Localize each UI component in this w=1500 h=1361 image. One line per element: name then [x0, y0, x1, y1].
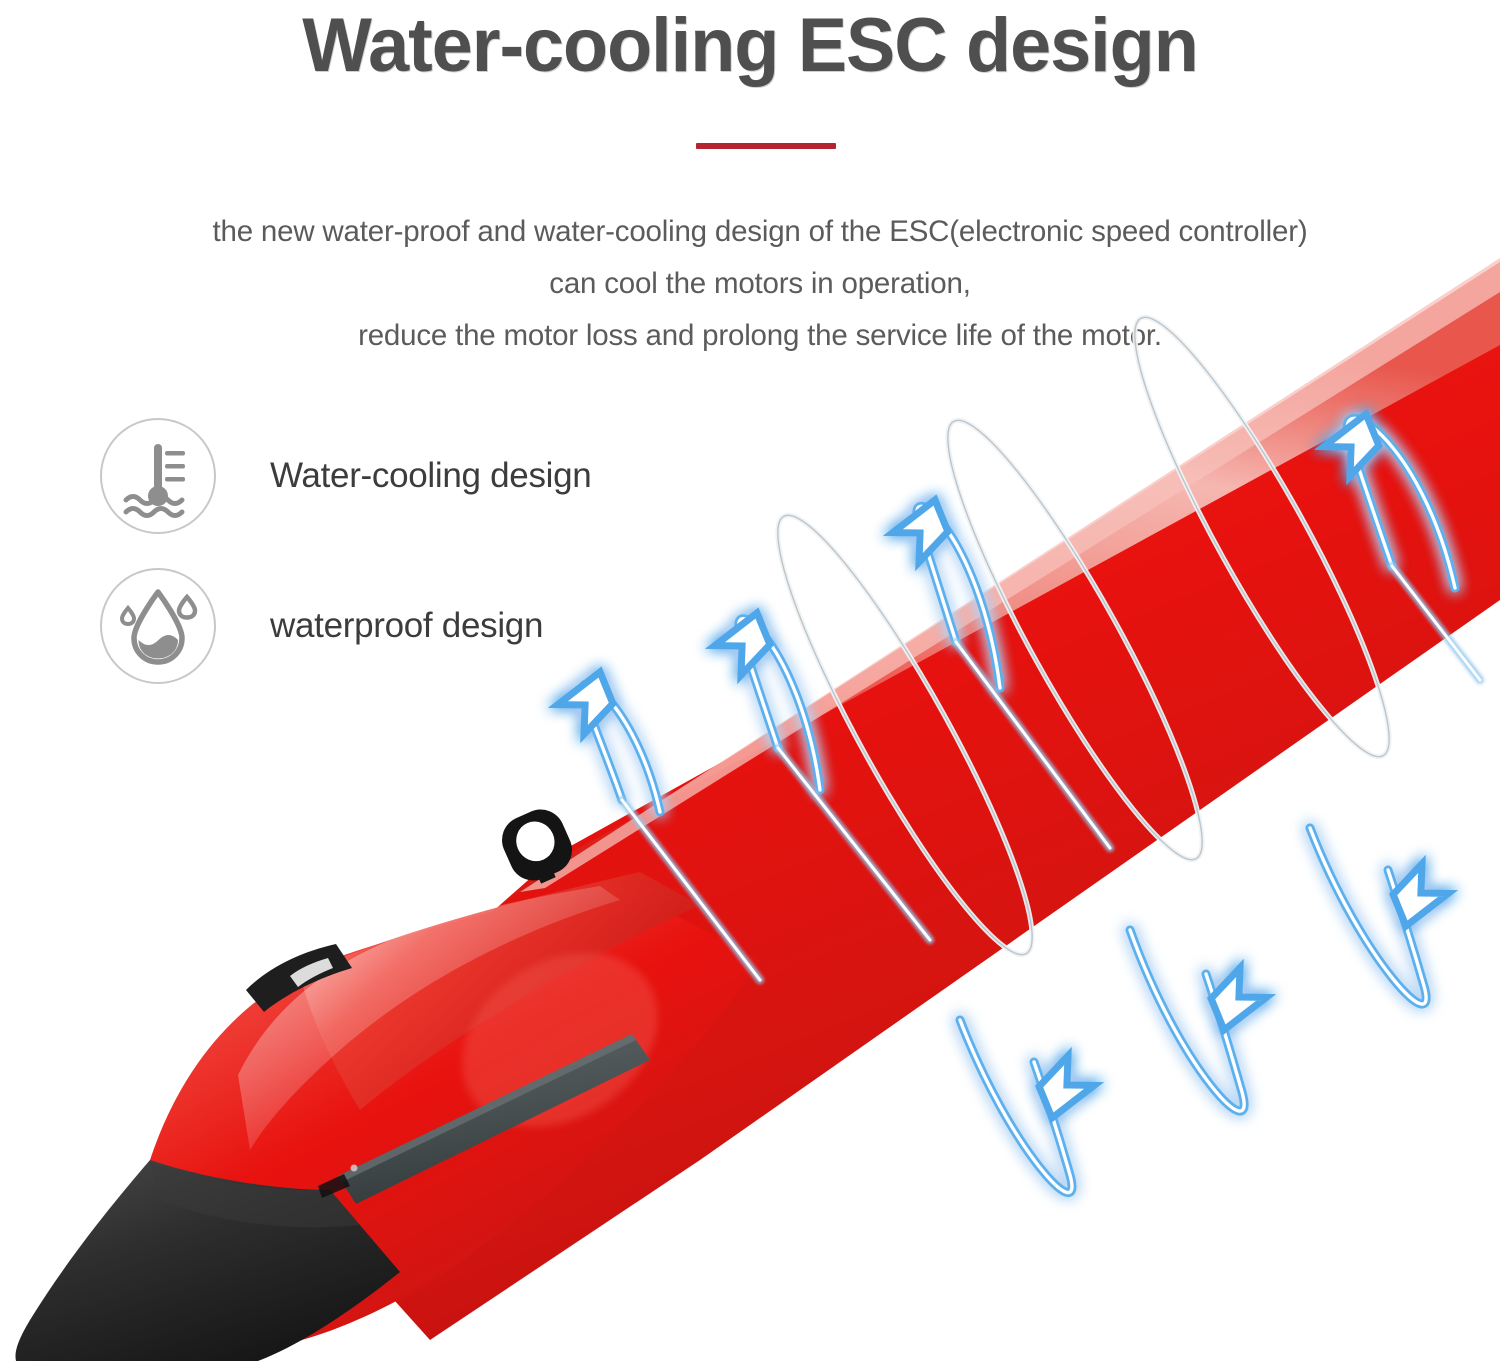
tow-hook-eyelet — [494, 802, 581, 892]
hull-bow-deck — [300, 872, 700, 1110]
circulation-ring-1 — [745, 495, 1064, 975]
deck-black-insert — [246, 944, 352, 1012]
ring-edge-shade — [745, 297, 1421, 975]
description-line-3: reduce the motor loss and prolong the se… — [60, 310, 1460, 362]
deck-vent-highlight — [338, 1034, 636, 1182]
deck-vent-grille — [338, 1034, 650, 1204]
hull-circulation-rings — [745, 297, 1421, 975]
description-line-1: the new water-proof and water-cooling de… — [60, 206, 1460, 258]
description-line-2: can cool the motors in operation, — [60, 258, 1460, 310]
feature-row-waterproof: waterproof design — [100, 568, 543, 684]
hull-nose-tip — [16, 1160, 400, 1361]
water-droplet-icon — [100, 568, 216, 684]
deck-vent-leadin — [318, 1174, 350, 1198]
airflow-arrows-lower — [960, 828, 1454, 1193]
flow-arrow-up-2 — [709, 604, 820, 790]
airflow-arrows-upper — [552, 405, 1455, 812]
flow-arrow-down-1 — [960, 1020, 1100, 1193]
airflow-connectors — [622, 566, 1480, 980]
hull-nose-edge — [150, 1162, 360, 1227]
circulation-ring-3 — [1102, 297, 1421, 777]
description-block: the new water-proof and water-cooling de… — [60, 206, 1460, 362]
circulation-ring-2 — [915, 400, 1234, 880]
feature-label-water-cooling: Water-cooling design — [270, 456, 591, 496]
flow-arrow-down-2 — [1130, 930, 1272, 1111]
feature-row-water-cooling: Water-cooling design — [100, 418, 591, 534]
flow-arrow-up-1 — [552, 663, 660, 812]
product-feature-graphic: Water-cooling ESC design the new water-p… — [0, 0, 1500, 1361]
flow-arrow-down-3 — [1310, 828, 1454, 1004]
hull-bow-body — [150, 880, 760, 1352]
hull-gloss-highlight — [238, 886, 620, 1150]
title-underline-rule — [696, 143, 836, 149]
feature-label-waterproof: waterproof design — [270, 606, 543, 646]
deck-insert-label — [290, 958, 333, 987]
deck-vent-screw — [351, 1165, 358, 1172]
thermometer-water-icon — [100, 418, 216, 534]
hull-cockpit-bulge — [429, 917, 690, 1162]
flow-arrow-up-4 — [1318, 405, 1455, 588]
flow-arrow-up-3 — [887, 491, 1000, 688]
page-title: Water-cooling ESC design — [23, 0, 1478, 96]
